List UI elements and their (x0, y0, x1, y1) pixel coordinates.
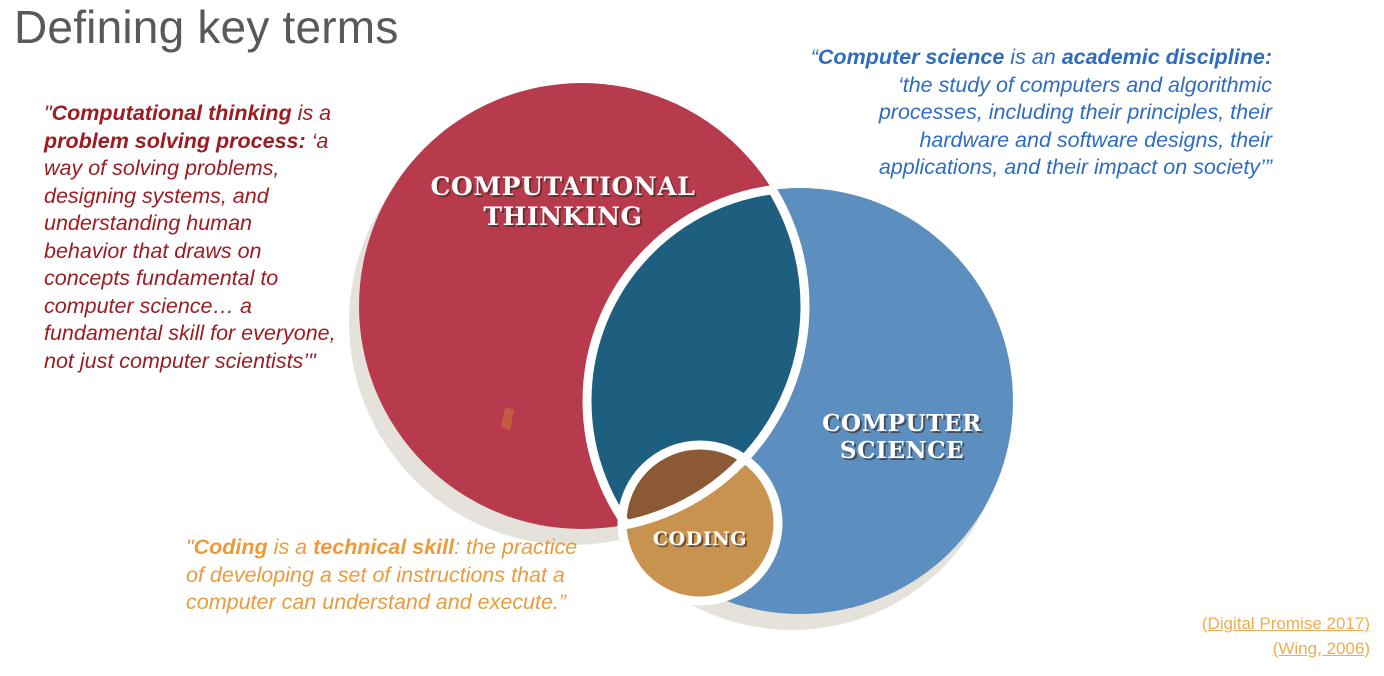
quote-coding-term: Coding (194, 535, 268, 559)
quote-coding: "Coding is a technical skill: the practi… (186, 534, 600, 617)
quote-ct-term: Computational thinking (52, 101, 292, 125)
quote-cs-body: ‘the study of computers and algorithmic … (879, 73, 1272, 180)
quote-coding-category: technical skill (313, 535, 454, 559)
citation-link-wing[interactable]: (Wing, 2006) (1202, 637, 1370, 662)
quote-cs-category: academic discipline: (1062, 45, 1272, 69)
quote-ct-connector: is a (292, 101, 331, 125)
quote-cs-term: Computer science (818, 45, 1004, 69)
quote-cs-open-quote: “ (811, 45, 818, 69)
quote-ct-category: problem solving process: (44, 129, 306, 153)
quote-ct-body: ‘a way of solving problems, designing sy… (44, 129, 336, 373)
citation-link-digital-promise[interactable]: (Digital Promise 2017) (1202, 612, 1370, 637)
slide-canvas: Defining key terms (0, 0, 1384, 676)
quote-coding-connector: is a (268, 535, 313, 559)
quote-computational-thinking: "Computational thinking is a problem sol… (44, 100, 336, 375)
quote-coding-open-quote: " (186, 535, 194, 559)
quote-ct-open-quote: " (44, 101, 52, 125)
citation-list: (Digital Promise 2017) (Wing, 2006) (1202, 612, 1370, 661)
quote-cs-connector: is an (1004, 45, 1061, 69)
quote-computer-science: “Computer science is an academic discipl… (806, 44, 1272, 182)
